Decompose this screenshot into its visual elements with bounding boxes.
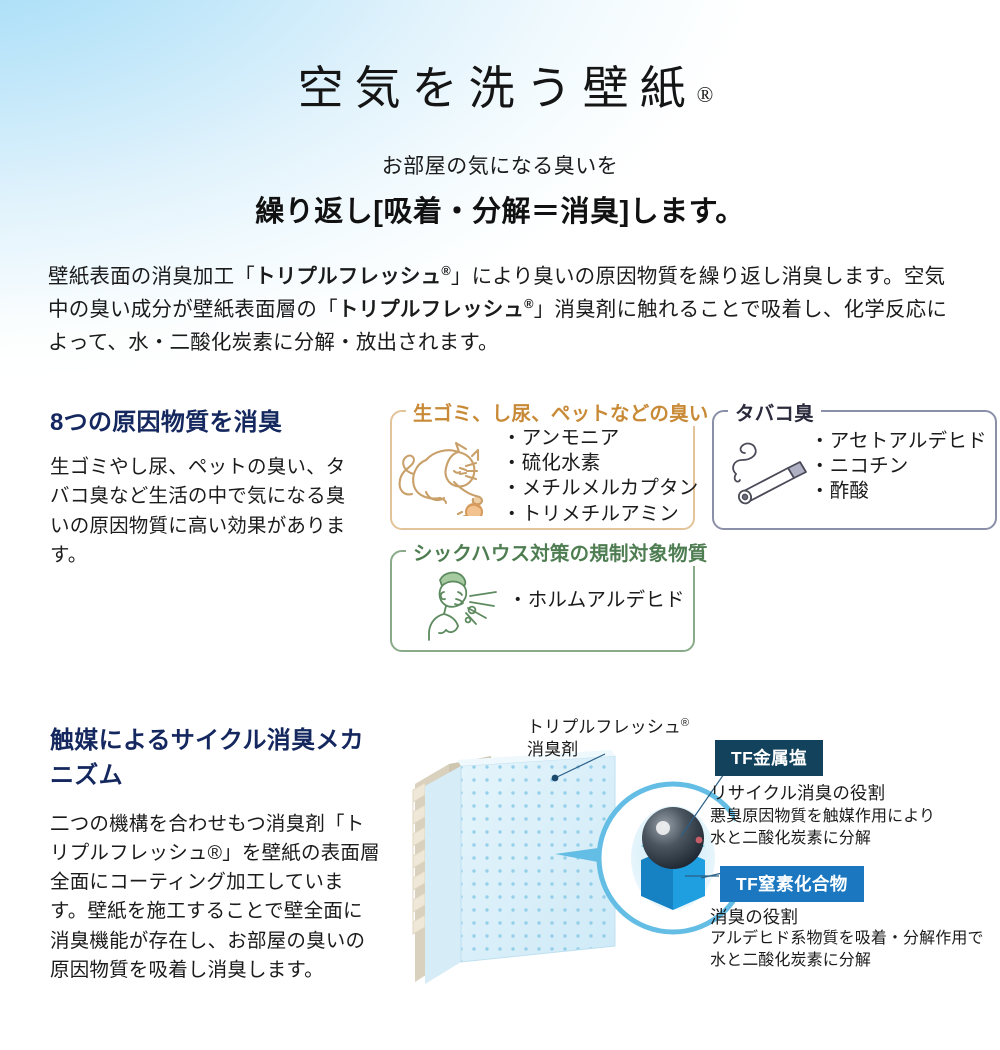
intro-paragraph: 壁紙表面の消臭加工「トリプルフレッシュ®」により臭いの原因物質を繰り返し消臭しま… [48,260,952,360]
odor-section-text: 8つの原因物質を消臭 生ゴミやし尿、ペットの臭い、タバコ臭など生活の中で気になる… [50,402,360,572]
list-item: ・ニコチン [810,454,987,479]
panel-tobacco-list: ・アセトアルデヒド ・ニコチン ・酢酸 [810,429,987,505]
subtitle-line-1: お部屋の気になる臭いを [0,150,1000,180]
panel-sickhouse-title: シックハウス対策の規制対象物質 [406,537,715,566]
desc-tf-nitrogen-compound: アルデヒド系物質を吸着・分解作用で 水と二酸化炭素に分解 [710,928,984,973]
odor-section-body: 生ゴミやし尿、ペットの臭い、タバコ臭など生活の中で気になる臭いの原因物質に高い効… [50,453,360,572]
role-tf-nitrogen-compound: 消臭の役割 [710,904,798,929]
badge-tf-nitrogen-compound: TF窒素化合物 [720,866,864,902]
brand-name-1: トリプルフレッシュ® [255,265,451,288]
mechanism-section-heading: 触媒によるサイクル消臭メカニズム [50,720,380,790]
agent-label-line-2: 消臭剤 [527,740,578,759]
cigarette-icon [722,432,812,517]
list-item: ・メチルメルカプタン [502,476,698,501]
panel-waste-odors: 生ゴミ、し尿、ペットなどの臭い [390,410,695,530]
role-tf-metal-salt: リサイクル消臭の役割 [710,780,885,805]
brand-text-1: トリプルフレッシュ [255,265,441,288]
panel-sickhouse-substances: シックハウス対策の規制対象物質 [390,550,695,652]
odor-section: 8つの原因物質を消臭 生ゴミやし尿、ペットの臭い、タバコ臭など生活の中で気になる… [0,402,1000,672]
desc-line-1: アルデヒド系物質を吸着・分解作用で [710,930,984,947]
registered-mark-icon: ® [524,296,534,311]
registered-mark-icon: ® [441,263,451,278]
registered-mark-icon: ® [681,717,689,729]
desc-line-2: 水と二酸化炭素に分解 [710,952,871,969]
page-title: 空気を洗う壁紙® [0,0,1000,118]
desc-line-2: 水と二酸化炭素に分解 [710,830,871,847]
coughing-person-icon [422,566,502,647]
mechanism-section: 触媒によるサイクル消臭メカニズム 二つの機構を合わせもつ消臭剤「トリプルフレッシ… [0,720,1000,1050]
odor-section-heading: 8つの原因物質を消臭 [50,402,360,437]
panel-tobacco-odor: タバコ臭 [712,410,997,530]
brand-name-2: トリプルフレッシュ® [338,298,534,321]
agent-label-line-1: トリプルフレッシュ [527,717,681,736]
panel-sickhouse-list: ・ホルムアルデヒド [508,588,685,613]
subtitle-line-2: 繰り返し[吸着・分解＝消臭]します。 [0,188,1000,230]
list-item: ・アセトアルデヒド [810,429,987,454]
panel-waste-list: ・アンモニア ・硫化水素 ・メチルメルカプタン ・トリメチルアミン [502,426,698,527]
subtitle-block: お部屋の気になる臭いを 繰り返し[吸着・分解＝消臭]します。 [0,150,1000,230]
list-item: ・アンモニア [502,426,698,451]
registered-mark-icon: ® [697,82,714,107]
badge-tf-metal-salt: TF金属塩 [715,740,823,776]
brand-text-2: トリプルフレッシュ [338,298,524,321]
panel-tobacco-title: タバコ臭 [728,397,821,426]
desc-tf-metal-salt: 悪臭原因物質を触媒作用により 水と二酸化炭素に分解 [710,806,935,851]
mechanism-section-text: 触媒によるサイクル消臭メカニズム 二つの機構を合わせもつ消臭剤「トリプルフレッシ… [50,720,380,986]
list-item: ・酢酸 [810,479,987,504]
cat-playing-icon [396,430,500,521]
list-item: ・硫化水素 [502,451,698,476]
desc-line-1: 悪臭原因物質を触媒作用により [710,808,935,825]
mechanism-diagram: トリプルフレッシュ® 消臭剤 TF金属塩 リサイクル消臭の役割 悪臭原因物質を触… [405,708,1000,1038]
intro-text-1: 壁紙表面の消臭加工「 [48,265,255,288]
list-item: ・ホルムアルデヒド [508,588,685,613]
mechanism-section-body: 二つの機構を合わせもつ消臭剤「トリプルフレッシュ®」を壁紙の表面層全面にコーティ… [50,810,380,986]
panel-waste-title: 生ゴミ、し尿、ペットなどの臭い [406,397,716,426]
list-item: ・トリメチルアミン [502,502,698,527]
page-title-text: 空気を洗う壁紙 [298,63,697,114]
agent-label: トリプルフレッシュ® 消臭剤 [527,716,689,763]
